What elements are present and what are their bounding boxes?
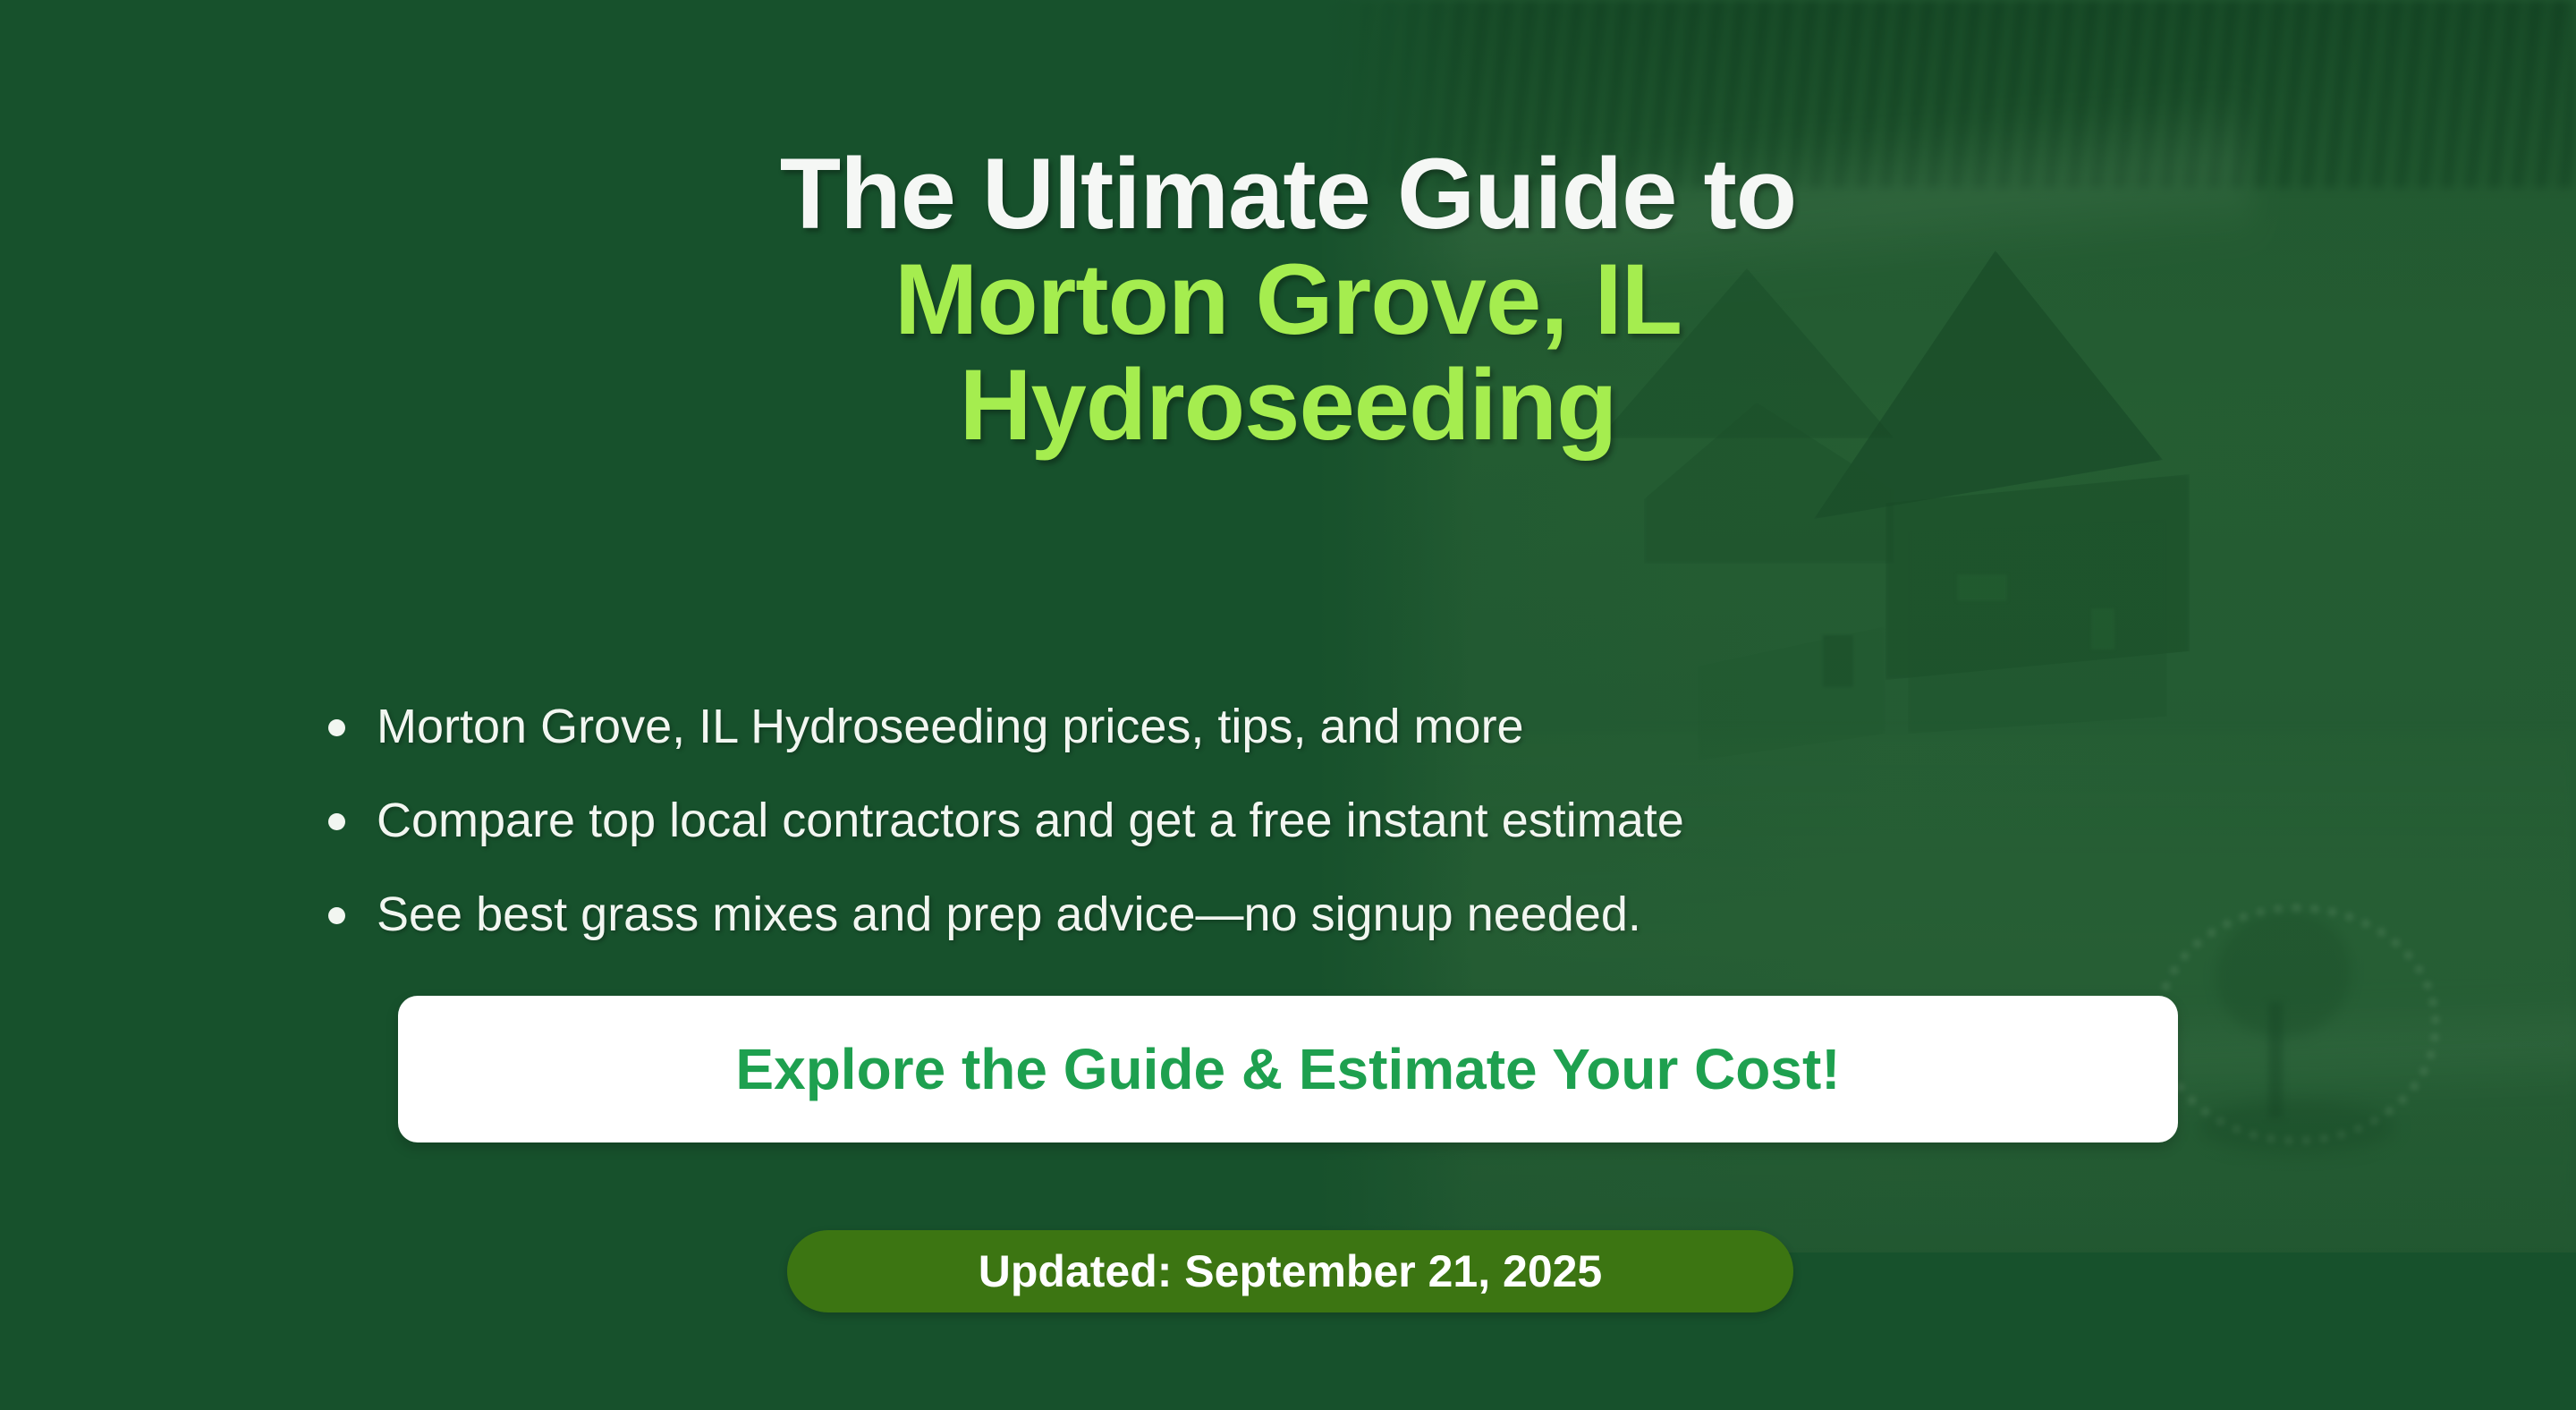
feature-bullet-list: Morton Grove, IL Hydroseeding prices, ti… [318,680,2285,962]
bullet-dot-icon [328,907,345,924]
bullet-dot-icon [328,813,345,830]
list-item-label: Morton Grove, IL Hydroseeding prices, ti… [377,700,1524,753]
headline-line-3: Hydroseeding [0,355,2576,455]
headline-line-1: The Ultimate Guide to [0,144,2576,244]
list-item: Morton Grove, IL Hydroseeding prices, ti… [318,680,2285,774]
banner-content: The Ultimate Guide to Morton Grove, IL H… [0,0,2576,1410]
list-item: Compare top local contractors and get a … [318,774,2285,868]
explore-guide-cta-button[interactable]: Explore the Guide & Estimate Your Cost! [398,996,2178,1142]
hero-banner: The Ultimate Guide to Morton Grove, IL H… [0,0,2576,1410]
bullet-dot-icon [328,719,345,736]
headline-line-2: Morton Grove, IL [0,250,2576,350]
list-item-label: Compare top local contractors and get a … [377,794,1684,847]
list-item: See best grass mixes and prep advice—no … [318,868,2285,962]
list-item-label: See best grass mixes and prep advice—no … [377,888,1641,941]
updated-date-badge: Updated: September 21, 2025 [787,1230,1793,1312]
page-title: The Ultimate Guide to Morton Grove, IL H… [0,144,2576,455]
